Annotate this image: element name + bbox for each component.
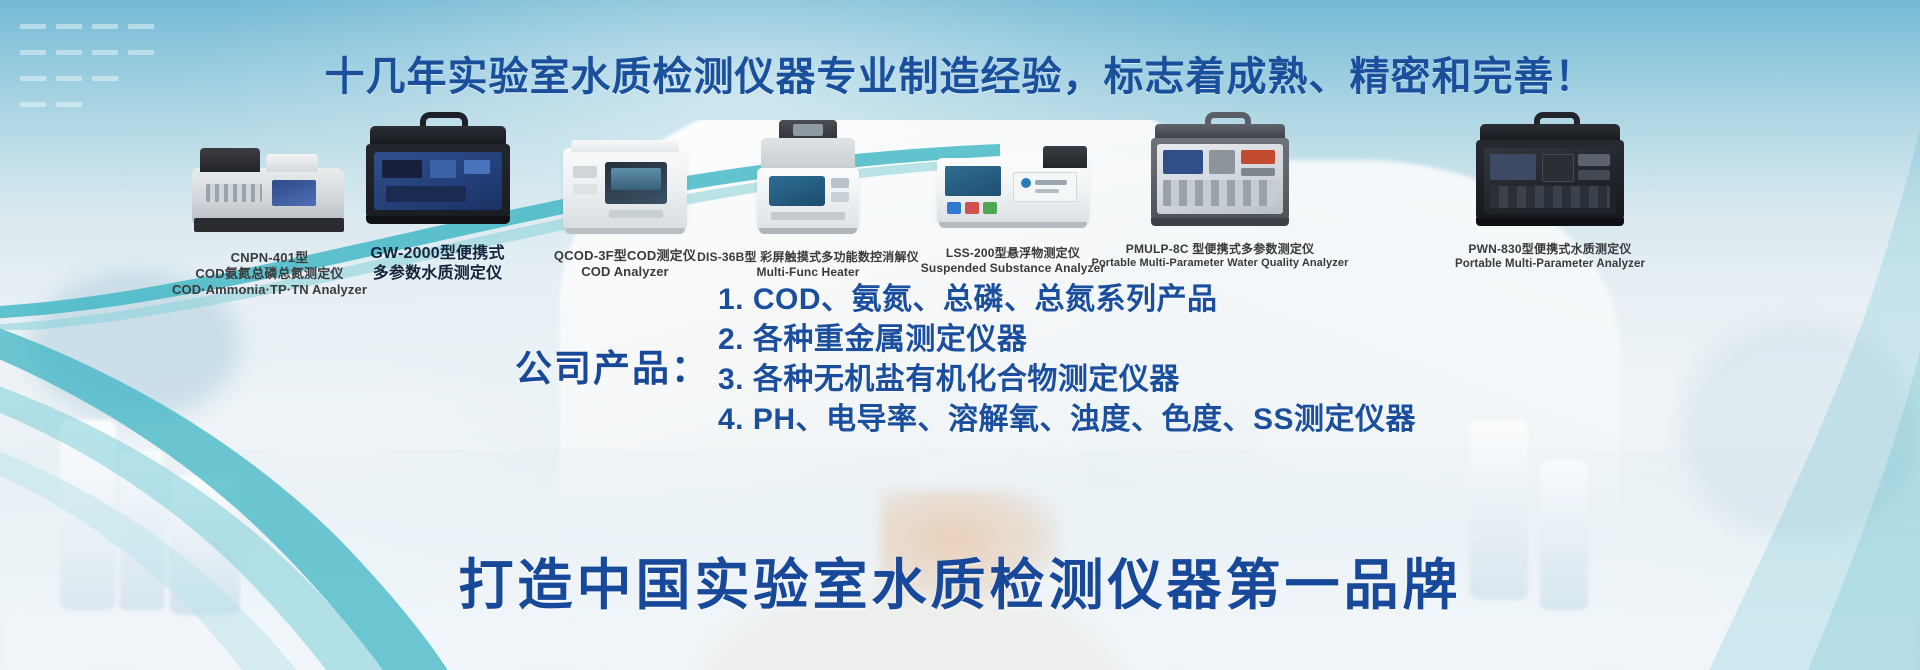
benchtop-spectrophotometer-icon bbox=[186, 126, 354, 244]
promo-banner: 十几年实验室水质检测仪器专业制造经验，标志着成熟、精密和完善！ CNPN-401… bbox=[0, 0, 1920, 670]
list-item: 4. PH、电导率、溶解氧、浊度、色度、SS测定仪器 bbox=[718, 400, 1718, 440]
product-model: PMULP-8C 型便携式多参数测定仪 bbox=[1052, 242, 1388, 257]
portable-case-analyzer-icon bbox=[358, 108, 518, 238]
list-item: 1. COD、氨氮、总磷、总氮系列产品 bbox=[718, 280, 1718, 320]
digestion-heater-icon bbox=[745, 118, 871, 244]
company-products-list: 1. COD、氨氮、总磷、总氮系列产品 2. 各种重金属测定仪器 3. 各种无机… bbox=[718, 280, 1718, 440]
company-products-block: 公司产品： 1. COD、氨氮、总磷、总氮系列产品 2. 各种重金属测定仪器 3… bbox=[0, 280, 1920, 430]
bottom-slogan: 打造中国实验室水质检测仪器第一品牌 bbox=[0, 540, 1920, 620]
portable-multiparam-case-icon bbox=[1145, 110, 1295, 236]
product-strip: CNPN-401型 COD氨氮总磷总氮测定仪 COD·Ammonia·TP·TN… bbox=[0, 108, 1920, 308]
product-name-en: Portable Multi-Parameter Water Quality A… bbox=[1052, 257, 1388, 270]
company-products-label: 公司产品： bbox=[470, 338, 710, 392]
product-model: PWN-830型便携式水质测定仪 bbox=[1400, 242, 1700, 257]
product-caption: PMULP-8C 型便携式多参数测定仪 Portable Multi-Param… bbox=[1052, 242, 1388, 270]
black-case-analyzer-icon bbox=[1470, 110, 1630, 236]
product-card-pmulp-8c[interactable]: PMULP-8C 型便携式多参数测定仪 Portable Multi-Param… bbox=[1052, 110, 1388, 270]
product-card-pwn-830[interactable]: PWN-830型便携式水质测定仪 Portable Multi-Paramete… bbox=[1400, 110, 1700, 271]
page-title: 十几年实验室水质检测仪器专业制造经验，标志着成熟、精密和完善！ bbox=[0, 44, 1920, 102]
list-item: 3. 各种无机盐有机化合物测定仪器 bbox=[718, 360, 1718, 400]
list-item: 2. 各种重金属测定仪器 bbox=[718, 320, 1718, 360]
product-caption: PWN-830型便携式水质测定仪 Portable Multi-Paramete… bbox=[1400, 242, 1700, 271]
product-name-en: Portable Multi-Parameter Analyzer bbox=[1400, 257, 1700, 271]
